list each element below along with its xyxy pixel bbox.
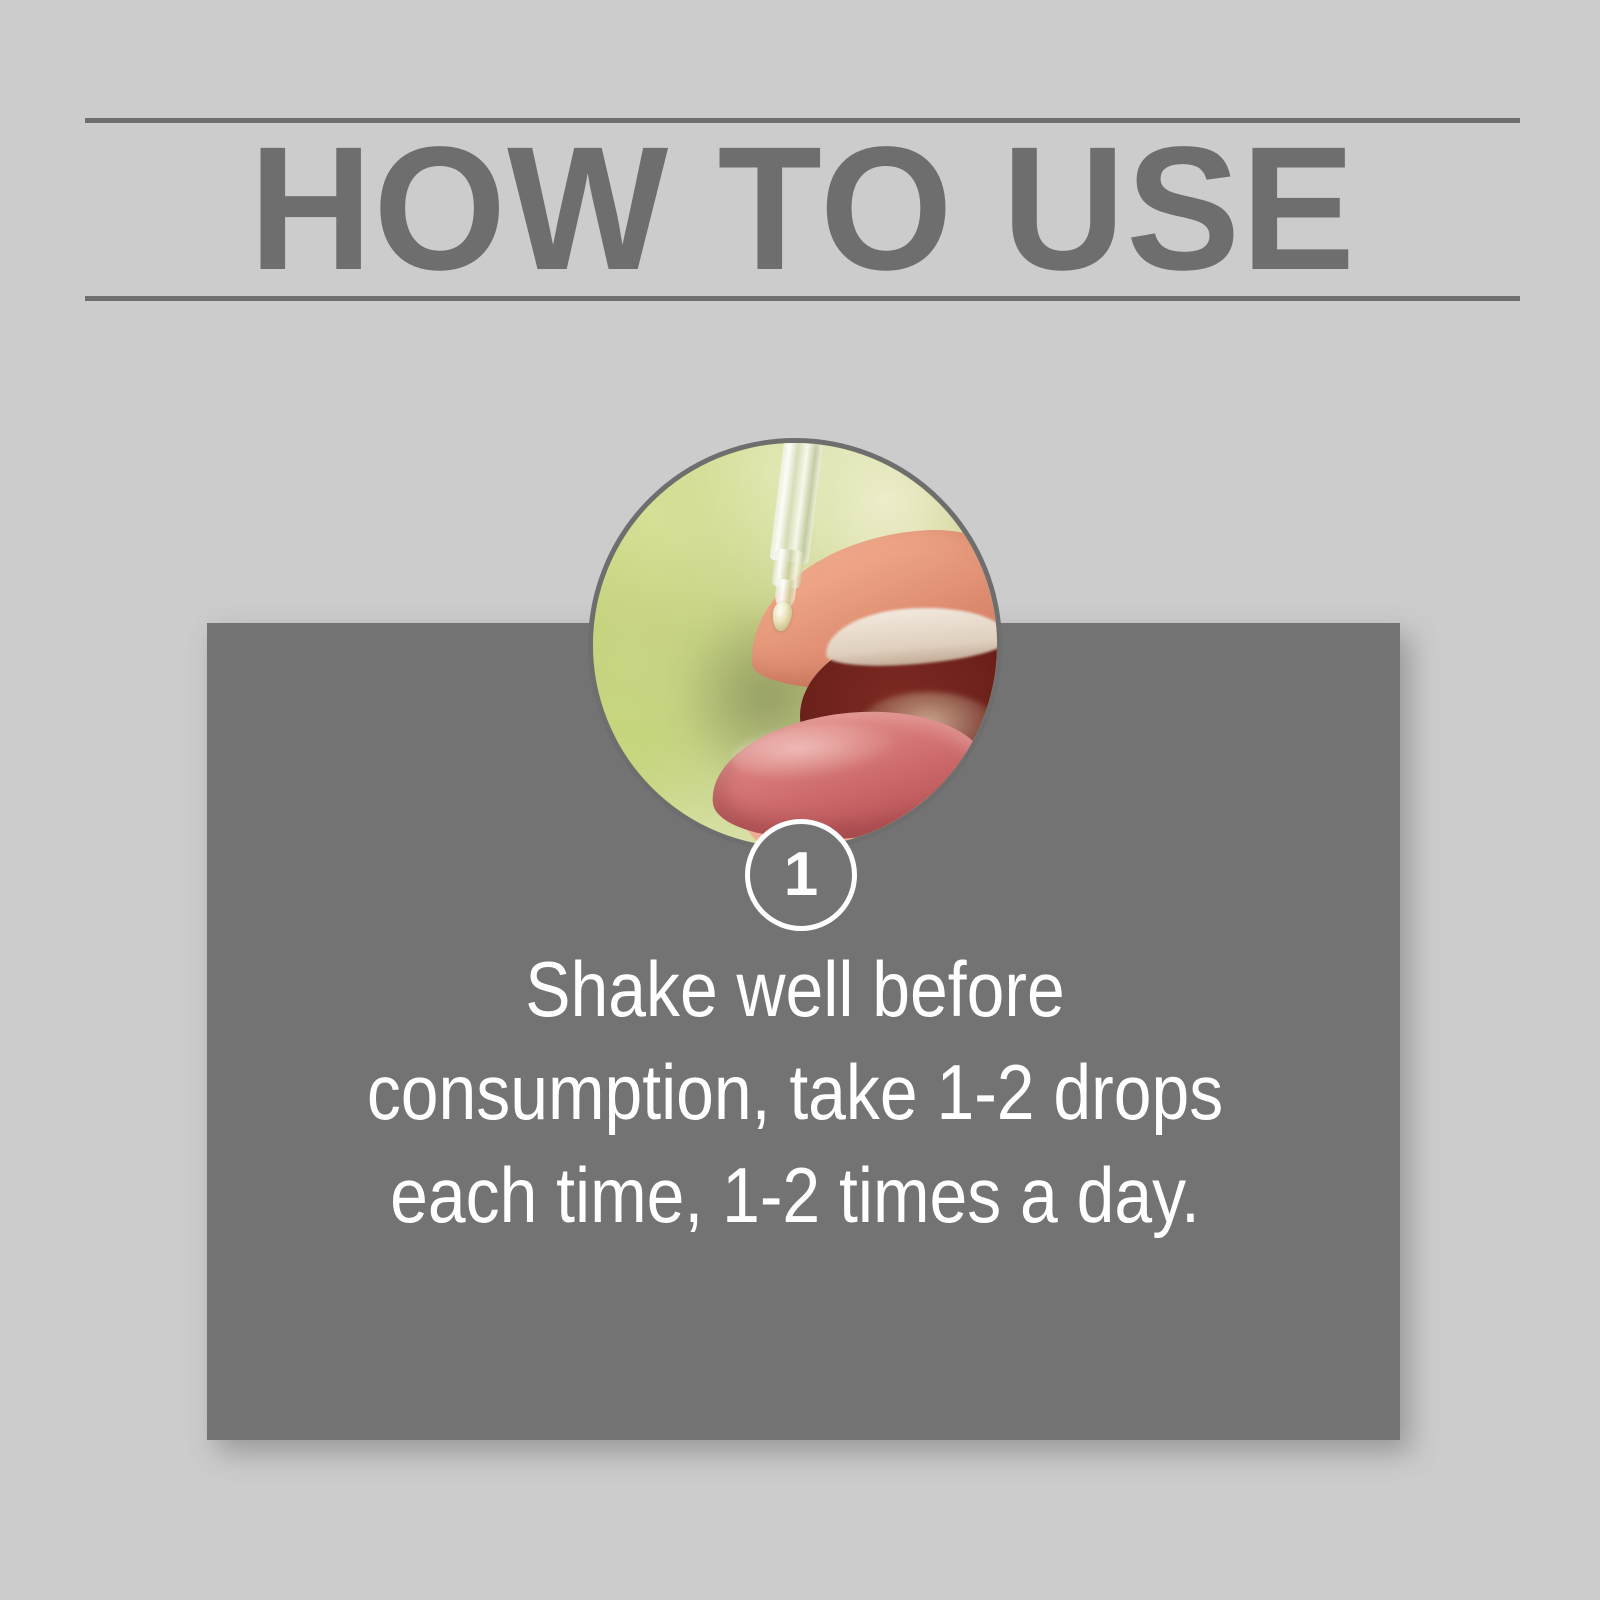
step-instruction-text: Shake well before consumption, take 1-2 … <box>347 938 1243 1247</box>
pipette-tube <box>770 443 823 564</box>
step-photo <box>588 438 1002 852</box>
step-number-badge: 1 <box>745 819 857 931</box>
tongue-highlight <box>729 718 905 785</box>
header-rule-bottom <box>85 296 1520 301</box>
poster-canvas: HOW TO USE <box>0 0 1600 1600</box>
header-block: HOW TO USE <box>85 118 1520 301</box>
photo-inner <box>593 443 997 847</box>
page-title: HOW TO USE <box>107 123 1499 296</box>
